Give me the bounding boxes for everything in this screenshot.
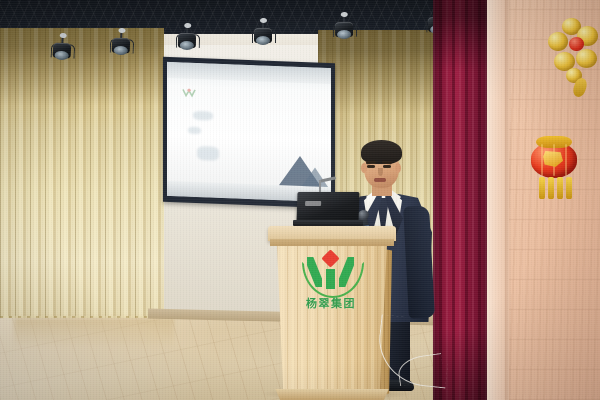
balloon-red-center (569, 37, 584, 51)
ear-right (395, 163, 401, 173)
lectern: 杨翠集团 (268, 226, 396, 400)
floor-reflection (14, 318, 174, 348)
eye-left (367, 165, 375, 168)
slide-graphic-2 (188, 127, 201, 134)
photo-scene: 杨翠集团 A man in a dark navy suit speaks in… (0, 0, 600, 400)
lectern-base (273, 389, 391, 400)
slide-tent-graphic-secondary (302, 167, 328, 187)
wood-pillar-edge (505, 0, 509, 400)
stage-light-4-icon (253, 21, 273, 47)
red-lantern-balloon (527, 136, 582, 206)
stage-light-1-icon (51, 35, 72, 62)
lectern-top-edge (270, 239, 394, 246)
mouth (374, 178, 386, 182)
slide-logo-icon (182, 87, 196, 99)
presenter-laptop (297, 192, 359, 228)
projection-screen-frame (163, 57, 335, 209)
company-logo-text: 杨翠集团 (298, 298, 364, 310)
laptop-brand-badge (305, 201, 321, 206)
company-logo: 杨翠集团 (296, 252, 366, 314)
slide-graphic-1 (193, 111, 213, 121)
nose (378, 168, 383, 176)
slide-graphic-3 (197, 146, 219, 161)
stage-light-2-icon (111, 31, 132, 58)
laptop-lid (296, 192, 359, 222)
eye-right (383, 165, 391, 168)
logo-center-stem-icon (326, 269, 335, 289)
arm-right (403, 205, 435, 318)
stage-light-5-icon (334, 15, 354, 41)
gold-flower-balloon (548, 18, 600, 104)
projection-screen-surface (167, 62, 331, 202)
ear-left (361, 163, 367, 173)
stage-light-3-icon (177, 26, 197, 52)
gold-curtain-left (0, 28, 164, 328)
screen-top-band (167, 62, 331, 84)
